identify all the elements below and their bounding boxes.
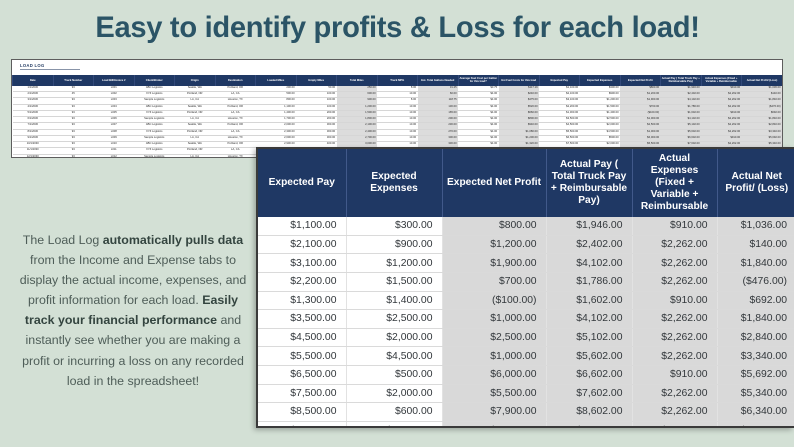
cell-expected-expenses: $4,500.00 xyxy=(346,347,442,366)
bg-col-header-4: Origin xyxy=(175,75,216,86)
cell-actual-expenses: $2,262.00 xyxy=(632,403,717,422)
cell-expected-net-profit: $5,500.00 xyxy=(442,384,546,403)
cell-actual-net-profit: $2,840.00 xyxy=(717,328,794,347)
cell-expected-pay: $5,500.00 xyxy=(258,347,346,366)
cell-actual-pay: $5,602.00 xyxy=(546,347,632,366)
cell-expected-net-profit: ($100.00) xyxy=(442,291,546,310)
cell-expected-net-profit: $1,000.00 xyxy=(442,310,546,329)
background-table-header-row: DateTruck NumberLoad Bill/Invoice #Clien… xyxy=(13,75,783,86)
load-log-underline xyxy=(20,69,80,70)
cell-expected-pay: $7,500.00 xyxy=(258,384,346,403)
profit-loss-table: Expected PayExpected ExpensesExpected Ne… xyxy=(258,149,794,428)
cell-expected-pay: $6,500.00 xyxy=(258,365,346,384)
profit-loss-row: $2,100.00$900.00$1,200.00$2,402.00$2,262… xyxy=(258,235,794,254)
profit-loss-col-header-2: Expected Net Profit xyxy=(442,149,546,217)
cell-expected-expenses: $2,000.00 xyxy=(346,328,442,347)
profit-loss-col-header-0: Expected Pay xyxy=(258,149,346,217)
cell-actual-pay: $7,602.00 xyxy=(546,384,632,403)
blurb-part-1: The Load Log xyxy=(23,233,103,247)
bg-col-header-18: Actual Net Profit/ (Loss) xyxy=(742,75,783,86)
profit-loss-col-header-3: Actual Pay ( Total Truck Pay + Reimbursa… xyxy=(546,149,632,217)
cell-expected-expenses: $1,400.00 xyxy=(346,291,442,310)
cell-actual-pay: $4,102.00 xyxy=(546,310,632,329)
bg-cell: LA, CA xyxy=(175,154,216,158)
bg-col-header-14: Expected Expenses xyxy=(580,75,621,86)
profit-loss-row: $7,500.00$2,000.00$5,500.00$7,602.00$2,2… xyxy=(258,384,794,403)
cell-expected-net-profit: $6,000.00 xyxy=(442,365,546,384)
profit-loss-row: $2,200.00$1,500.00$700.00$1,786.00$2,262… xyxy=(258,272,794,291)
bg-col-header-11: Average Fuel Cost per Gallon for this lo… xyxy=(458,75,499,86)
cell-actual-pay: $4,102.00 xyxy=(546,254,632,273)
bg-col-header-3: Client/Broker xyxy=(134,75,175,86)
cell-actual-pay: $1,946.00 xyxy=(546,217,632,236)
cell-actual-net-profit: $3,340.00 xyxy=(717,347,794,366)
cell-expected-pay: $3,100.00 xyxy=(258,254,346,273)
profit-loss-row: $9,500.00$6,500.00$3,000.00$9,602.00$2,2… xyxy=(258,421,794,428)
profit-loss-row: $3,500.00$2,500.00$1,000.00$4,102.00$2,2… xyxy=(258,310,794,329)
cell-expected-expenses: $300.00 xyxy=(346,217,442,236)
blurb-bold-1: automatically pulls data xyxy=(103,233,243,247)
load-log-label: LOAD LOG xyxy=(12,60,782,69)
cell-expected-pay: $4,500.00 xyxy=(258,328,346,347)
cell-actual-expenses: $2,262.00 xyxy=(632,310,717,329)
cell-expected-net-profit: $800.00 xyxy=(442,217,546,236)
bg-cell: 12/1/2030 xyxy=(13,154,54,158)
cell-actual-net-profit: $1,036.00 xyxy=(717,217,794,236)
cell-expected-pay: $8,500.00 xyxy=(258,403,346,422)
cell-actual-net-profit: ($476.00) xyxy=(717,272,794,291)
cell-expected-expenses: $600.00 xyxy=(346,403,442,422)
profit-loss-body: $1,100.00$300.00$800.00$1,946.00$910.00$… xyxy=(258,217,794,428)
cell-expected-pay: $1,300.00 xyxy=(258,291,346,310)
cell-expected-expenses: $900.00 xyxy=(346,235,442,254)
cell-expected-net-profit: $3,000.00 xyxy=(442,421,546,428)
cell-actual-expenses: $2,262.00 xyxy=(632,328,717,347)
bg-cell: Houston, TX xyxy=(215,154,256,158)
background-spreadsheet: LOAD LOG DateTruck NumberLoad Bill/Invoi… xyxy=(11,59,783,158)
profit-loss-row: $1,300.00$1,400.00($100.00)$1,602.00$910… xyxy=(258,291,794,310)
profit-loss-overlay-panel: Expected PayExpected ExpensesExpected Ne… xyxy=(256,147,794,428)
cell-expected-net-profit: $7,900.00 xyxy=(442,403,546,422)
bg-col-header-1: Truck Number xyxy=(53,75,94,86)
cell-actual-expenses: $2,262.00 xyxy=(632,272,717,291)
description-paragraph: The Load Log automatically pulls data fr… xyxy=(14,230,252,391)
profit-loss-row: $6,500.00$500.00$6,000.00$6,602.00$910.0… xyxy=(258,365,794,384)
cell-actual-net-profit: $5,692.00 xyxy=(717,365,794,384)
cell-expected-expenses: $1,500.00 xyxy=(346,272,442,291)
cell-expected-net-profit: $1,900.00 xyxy=(442,254,546,273)
cell-expected-expenses: $500.00 xyxy=(346,365,442,384)
cell-actual-net-profit: $140.00 xyxy=(717,235,794,254)
page-title: Easy to identify profits & Loss for each… xyxy=(95,11,699,45)
bg-col-header-7: Empty Miles xyxy=(296,75,337,86)
cell-expected-net-profit: $700.00 xyxy=(442,272,546,291)
cell-actual-expenses: $2,262.00 xyxy=(632,421,717,428)
profit-loss-row: $5,500.00$4,500.00$1,000.00$5,602.00$2,2… xyxy=(258,347,794,366)
profit-loss-col-header-5: Actual Net Profit/ (Loss) xyxy=(717,149,794,217)
profit-loss-row: $4,500.00$2,000.00$2,500.00$5,102.00$2,2… xyxy=(258,328,794,347)
profit-loss-col-header-1: Expected Expenses xyxy=(346,149,442,217)
bg-col-header-5: Destination xyxy=(215,75,256,86)
bg-col-header-13: Expected Pay xyxy=(539,75,580,86)
cell-actual-expenses: $2,262.00 xyxy=(632,347,717,366)
profit-loss-row: $1,100.00$300.00$800.00$1,946.00$910.00$… xyxy=(258,217,794,236)
bg-col-header-12: Est Fuel Costs for this load xyxy=(499,75,540,86)
cell-actual-net-profit: $1,840.00 xyxy=(717,310,794,329)
cell-actual-expenses: $910.00 xyxy=(632,217,717,236)
cell-expected-pay: $9,500.00 xyxy=(258,421,346,428)
cell-actual-pay: $2,402.00 xyxy=(546,235,632,254)
bg-col-header-9: Truck MPG xyxy=(377,75,418,86)
bg-col-header-2: Load Bill/Invoice # xyxy=(94,75,135,86)
profit-loss-row: $3,100.00$1,200.00$1,900.00$4,102.00$2,2… xyxy=(258,254,794,273)
cell-expected-expenses: $6,500.00 xyxy=(346,421,442,428)
bg-col-header-8: Total Miles xyxy=(337,75,378,86)
cell-expected-net-profit: $1,000.00 xyxy=(442,347,546,366)
bg-col-header-15: Expected Net Profit xyxy=(620,75,661,86)
cell-expected-net-profit: $2,500.00 xyxy=(442,328,546,347)
bg-col-header-6: Loaded Miles xyxy=(256,75,297,86)
cell-actual-expenses: $2,262.00 xyxy=(632,384,717,403)
bg-col-header-10: Est. Total Gallons Needed xyxy=(418,75,459,86)
profit-loss-row: $8,500.00$600.00$7,900.00$8,602.00$2,262… xyxy=(258,403,794,422)
bg-col-header-17: Actual Expenses (Fixed + Variable + Reim… xyxy=(701,75,742,86)
cell-actual-pay: $5,102.00 xyxy=(546,328,632,347)
cell-actual-net-profit: $1,840.00 xyxy=(717,254,794,273)
cell-expected-expenses: $2,500.00 xyxy=(346,310,442,329)
page-title-bar: Easy to identify profits & Loss for each… xyxy=(0,0,794,56)
profit-loss-col-header-4: Actual Expenses (Fixed + Variable + Reim… xyxy=(632,149,717,217)
cell-actual-pay: $1,786.00 xyxy=(546,272,632,291)
cell-actual-expenses: $910.00 xyxy=(632,291,717,310)
cell-actual-net-profit: $5,340.00 xyxy=(717,384,794,403)
cell-actual-expenses: $2,262.00 xyxy=(632,235,717,254)
cell-expected-expenses: $2,000.00 xyxy=(346,384,442,403)
bg-cell: Sample Logistics xyxy=(134,154,175,158)
cell-actual-net-profit: $7,340.00 xyxy=(717,421,794,428)
bg-col-header-0: Date xyxy=(13,75,54,86)
cell-actual-pay: $6,602.00 xyxy=(546,365,632,384)
cell-actual-net-profit: $692.00 xyxy=(717,291,794,310)
cell-actual-net-profit: $6,340.00 xyxy=(717,403,794,422)
bg-cell: L012 xyxy=(94,154,135,158)
cell-expected-expenses: $1,200.00 xyxy=(346,254,442,273)
cell-actual-pay: $1,602.00 xyxy=(546,291,632,310)
bg-cell: 93 xyxy=(53,154,94,158)
cell-actual-expenses: $2,262.00 xyxy=(632,254,717,273)
profit-loss-header-row: Expected PayExpected ExpensesExpected Ne… xyxy=(258,149,794,217)
cell-expected-pay: $2,200.00 xyxy=(258,272,346,291)
background-load-log-table: DateTruck NumberLoad Bill/Invoice #Clien… xyxy=(12,75,782,158)
cell-actual-pay: $8,602.00 xyxy=(546,403,632,422)
cell-actual-pay: $9,602.00 xyxy=(546,421,632,428)
cell-expected-pay: $2,100.00 xyxy=(258,235,346,254)
cell-expected-net-profit: $1,200.00 xyxy=(442,235,546,254)
bg-col-header-16: Actual Pay ( Total Truck Pay + Reimbursa… xyxy=(661,75,702,86)
cell-expected-pay: $1,100.00 xyxy=(258,217,346,236)
cell-actual-expenses: $910.00 xyxy=(632,365,717,384)
cell-expected-pay: $3,500.00 xyxy=(258,310,346,329)
